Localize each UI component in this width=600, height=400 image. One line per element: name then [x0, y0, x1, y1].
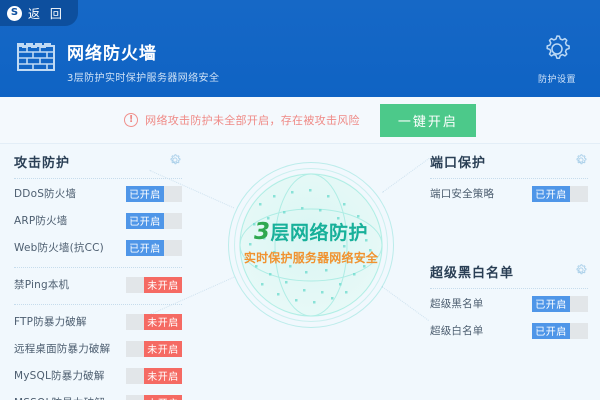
- notice-row: ! 网络攻击防护未全部开启，存在被攻击风险 一键开启: [124, 104, 476, 137]
- row-label-rdp: 远程桌面防暴力破解: [14, 341, 110, 356]
- toggle-ddos[interactable]: 已开启: [126, 186, 182, 202]
- panel-attack-protection: 攻击防护 DDoS防火墙 已开启 ARP防火墙 已开启: [14, 152, 182, 400]
- row-label-ping: 禁Ping本机: [14, 277, 69, 292]
- center-headline-text: 层网络防护: [271, 222, 369, 244]
- list-item: ARP防火墙 已开启: [14, 208, 182, 233]
- divider: [14, 267, 182, 268]
- row-label-ddos: DDoS防火墙: [14, 186, 76, 201]
- toggle-rdp[interactable]: 未开启: [126, 341, 182, 357]
- toggle-mssql-state: 未开启: [144, 395, 182, 400]
- firewall-app-window: S 返 回: [0, 0, 600, 400]
- row-label-mssql: MSSQL防暴力破解: [14, 395, 105, 400]
- toggle-arp[interactable]: 已开启: [126, 213, 182, 229]
- row-label-port-policy: 端口安全策略: [430, 186, 494, 201]
- gear-icon: [540, 32, 574, 70]
- attack-group-1: DDoS防火墙 已开启 ARP防火墙 已开启 Web防火墙(抗CC) 已开启: [14, 181, 182, 260]
- protection-settings-label: 防护设置: [538, 72, 576, 85]
- attack-group-2: 禁Ping本机 未开启: [14, 272, 182, 297]
- toggle-arp-state: 已开启: [126, 213, 164, 229]
- panel-blacklist-header: 超级黑白名单: [430, 262, 588, 289]
- main-content: 3层网络防护 实时保护服务器网络安全 攻击防护 DDoS防火墙 已开启: [0, 143, 600, 400]
- page-title: 网络防火墙: [67, 39, 219, 64]
- toggle-ddos-state: 已开启: [126, 186, 164, 202]
- panel-port-protection: 端口保护 端口安全策略 已开启: [430, 152, 588, 206]
- center-caption: 3层网络防护 实时保护服务器网络安全: [228, 218, 394, 266]
- toggle-rdp-state: 未开启: [144, 341, 182, 357]
- row-label-web: Web防火墙(抗CC): [14, 240, 104, 255]
- toggle-super-blacklist[interactable]: 已开启: [532, 296, 588, 312]
- toggle-super-whitelist[interactable]: 已开启: [532, 323, 588, 339]
- toggle-mysql-state: 未开启: [144, 368, 182, 384]
- attack-group-3: FTP防暴力破解 未开启 远程桌面防暴力破解 未开启 MySQL防暴力破解 未开…: [14, 309, 182, 400]
- list-item: 端口安全策略 已开启: [430, 181, 588, 206]
- notice-bar: ! 网络攻击防护未全部开启，存在被攻击风险 一键开启: [0, 97, 600, 143]
- toggle-web-state: 已开启: [126, 240, 164, 256]
- toggle-super-whitelist-state: 已开启: [532, 323, 570, 339]
- toggle-ftp-state: 未开启: [144, 314, 182, 330]
- center-subline: 实时保护服务器网络安全: [228, 249, 394, 266]
- toggle-web[interactable]: 已开启: [126, 240, 182, 256]
- globe-graphic: 3层网络防护 实时保护服务器网络安全: [228, 162, 394, 328]
- list-item: DDoS防火墙 已开启: [14, 181, 182, 206]
- list-item: Web防火墙(抗CC) 已开启: [14, 235, 182, 260]
- back-button[interactable]: S 返 回: [0, 0, 78, 26]
- shield-s-icon: S: [7, 6, 22, 21]
- row-label-mysql: MySQL防暴力破解: [14, 368, 105, 383]
- toggle-ping[interactable]: 未开启: [126, 277, 182, 293]
- brand-block: 网络防火墙 3层防护实时保护服务器网络安全: [16, 38, 219, 84]
- panel-port-title: 端口保护: [430, 152, 486, 171]
- toggle-mssql[interactable]: 未开启: [126, 395, 182, 400]
- brand-text: 网络防火墙 3层防护实时保护服务器网络安全: [67, 38, 219, 84]
- panel-super-blackwhite-list: 超级黑白名单 超级黑名单 已开启 超级白名单 已开启: [430, 262, 588, 343]
- brick-wall-icon: [16, 38, 56, 72]
- toggle-ftp[interactable]: 未开启: [126, 314, 182, 330]
- list-item: FTP防暴力破解 未开启: [14, 309, 182, 334]
- panel-blacklist-title: 超级黑白名单: [430, 262, 514, 281]
- notice-text: 网络攻击防护未全部开启，存在被攻击风险: [145, 112, 360, 128]
- gear-icon[interactable]: [168, 152, 182, 171]
- center-headline: 3层网络防护: [228, 218, 394, 245]
- page-subtitle: 3层防护实时保护服务器网络安全: [67, 69, 219, 84]
- protection-settings-button[interactable]: 防护设置: [528, 32, 586, 85]
- list-item: 超级黑名单 已开启: [430, 291, 588, 316]
- toggle-port-policy-state: 已开启: [532, 186, 570, 202]
- toggle-super-blacklist-state: 已开启: [532, 296, 570, 312]
- row-label-super-blacklist: 超级黑名单: [430, 296, 484, 311]
- toggle-port-policy[interactable]: 已开启: [532, 186, 588, 202]
- panel-attack-title: 攻击防护: [14, 152, 70, 171]
- list-item: 禁Ping本机 未开启: [14, 272, 182, 297]
- panel-port-header: 端口保护: [430, 152, 588, 179]
- panel-attack-header: 攻击防护: [14, 152, 182, 179]
- center-headline-number: 3: [254, 219, 271, 245]
- warning-exclamation-icon: !: [124, 113, 138, 127]
- row-label-super-whitelist: 超级白名单: [430, 323, 484, 338]
- list-item: 超级白名单 已开启: [430, 318, 588, 343]
- list-item: MySQL防暴力破解 未开启: [14, 363, 182, 388]
- back-button-label: 返 回: [28, 5, 65, 22]
- list-item: MSSQL防暴力破解 未开启: [14, 390, 182, 400]
- gear-icon[interactable]: [574, 262, 588, 281]
- toggle-ping-state: 未开启: [144, 277, 182, 293]
- gear-icon[interactable]: [574, 152, 588, 171]
- toggle-mysql[interactable]: 未开启: [126, 368, 182, 384]
- row-label-ftp: FTP防暴力破解: [14, 314, 87, 329]
- row-label-arp: ARP防火墙: [14, 213, 68, 228]
- app-header: S 返 回: [0, 0, 600, 97]
- enable-all-button[interactable]: 一键开启: [380, 104, 476, 137]
- list-item: 远程桌面防暴力破解 未开启: [14, 336, 182, 361]
- divider: [14, 304, 182, 305]
